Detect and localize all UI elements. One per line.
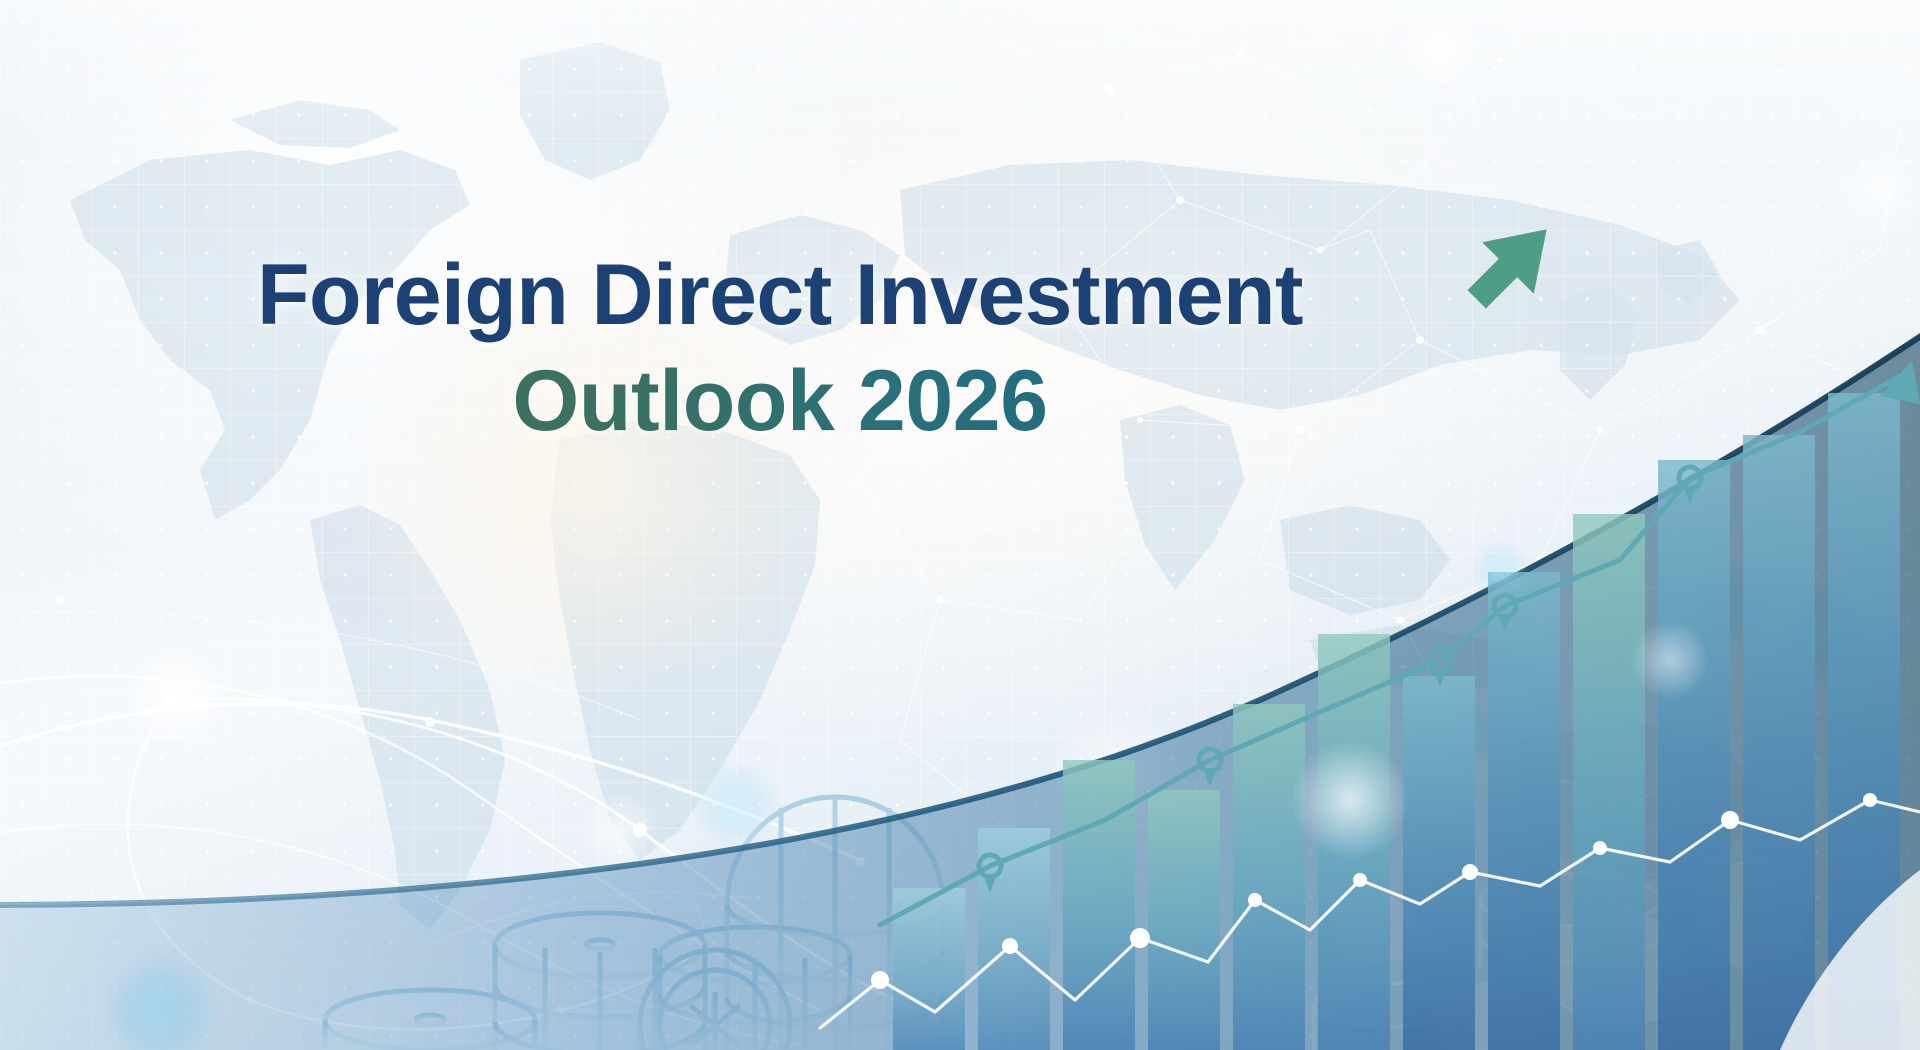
bar-chart bbox=[0, 0, 1920, 1050]
coin-stack-icon bbox=[325, 990, 535, 1050]
crystal-shapes bbox=[1330, 855, 1920, 1050]
growth-arrow-icon bbox=[1462, 222, 1554, 314]
world-map-icon bbox=[0, 0, 1920, 1050]
coin-stack-icon bbox=[1314, 874, 1660, 1050]
title-line-secondary: Outlook 2026 bbox=[0, 358, 1560, 446]
trend-markers bbox=[979, 467, 1701, 877]
globe-grid-icon bbox=[727, 797, 943, 1050]
coin-stack-icon bbox=[660, 927, 850, 1050]
title-line-primary: Foreign Direct Investment bbox=[0, 252, 1560, 340]
volatility-line bbox=[0, 0, 1920, 1050]
grid-pattern bbox=[0, 0, 1920, 1050]
corner-wedge bbox=[0, 0, 1920, 1050]
sparkle-glows bbox=[0, 0, 1920, 1050]
page-title: Foreign Direct Investment Outlook 2026 bbox=[0, 252, 1560, 445]
banner-canvas: Foreign Direct Investment Outlook 2026 bbox=[0, 0, 1920, 1050]
trend-line bbox=[0, 0, 1920, 1050]
momentum-curve bbox=[0, 0, 1920, 1050]
finance-icon-cluster bbox=[0, 0, 1920, 1050]
currency-coin-icon bbox=[640, 950, 790, 1050]
network-node-icon bbox=[0, 0, 1920, 1050]
bokeh-glows bbox=[0, 0, 1920, 1050]
coin-stack-icon bbox=[495, 913, 705, 1050]
bar-series bbox=[893, 393, 1900, 1050]
light-ribbon-lines bbox=[0, 0, 1920, 1050]
top-fade bbox=[0, 0, 1920, 1050]
